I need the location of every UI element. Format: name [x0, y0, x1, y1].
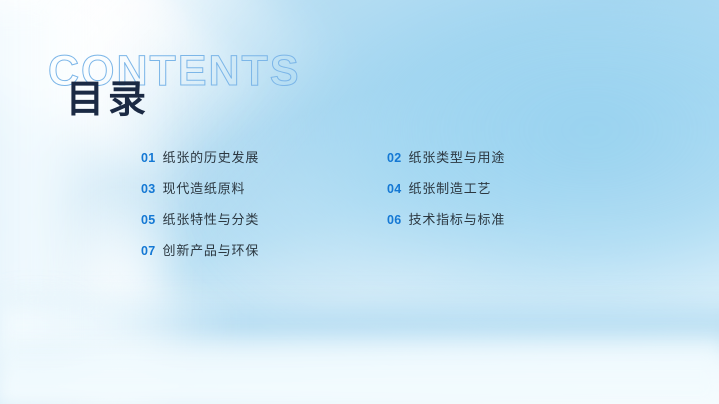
agenda-item-number: 02	[387, 151, 402, 165]
agenda-item-label: 纸张制造工艺	[409, 178, 492, 197]
agenda-item-07[interactable]: 07 创新产品与环保	[141, 240, 259, 271]
agenda-column-left: 01 纸张的历史发展 03 现代造纸原料 05 纸张特性与分类 07 创新产品与…	[141, 147, 259, 271]
agenda-item-label: 创新产品与环保	[163, 240, 260, 259]
agenda-item-number: 03	[141, 182, 156, 196]
agenda-item-number: 05	[141, 213, 156, 227]
agenda-item-03[interactable]: 03 现代造纸原料	[141, 178, 259, 209]
slide-heading-group: CONTENTS 目录	[0, 0, 719, 130]
agenda-item-01[interactable]: 01 纸张的历史发展	[141, 147, 259, 178]
agenda-item-number: 06	[387, 213, 402, 227]
agenda-item-number: 07	[141, 244, 156, 258]
agenda-item-label: 纸张的历史发展	[163, 147, 260, 166]
agenda-column-right: 02 纸张类型与用途 04 纸张制造工艺 06 技术指标与标准	[387, 147, 505, 240]
agenda-item-05[interactable]: 05 纸张特性与分类	[141, 209, 259, 240]
page-title: 目录	[66, 81, 150, 119]
agenda-item-label: 纸张特性与分类	[163, 209, 260, 228]
agenda-item-02[interactable]: 02 纸张类型与用途	[387, 147, 505, 178]
agenda-item-number: 04	[387, 182, 402, 196]
agenda-item-04[interactable]: 04 纸张制造工艺	[387, 178, 505, 209]
agenda-item-06[interactable]: 06 技术指标与标准	[387, 209, 505, 240]
agenda-item-label: 纸张类型与用途	[409, 147, 506, 166]
agenda-item-label: 技术指标与标准	[409, 209, 506, 228]
agenda-item-number: 01	[141, 151, 156, 165]
agenda-item-label: 现代造纸原料	[163, 178, 246, 197]
presentation-slide: CONTENTS 目录 01 纸张的历史发展 03 现代造纸原料 05 纸张特性…	[0, 0, 719, 404]
background-bottom-wash	[0, 330, 719, 404]
